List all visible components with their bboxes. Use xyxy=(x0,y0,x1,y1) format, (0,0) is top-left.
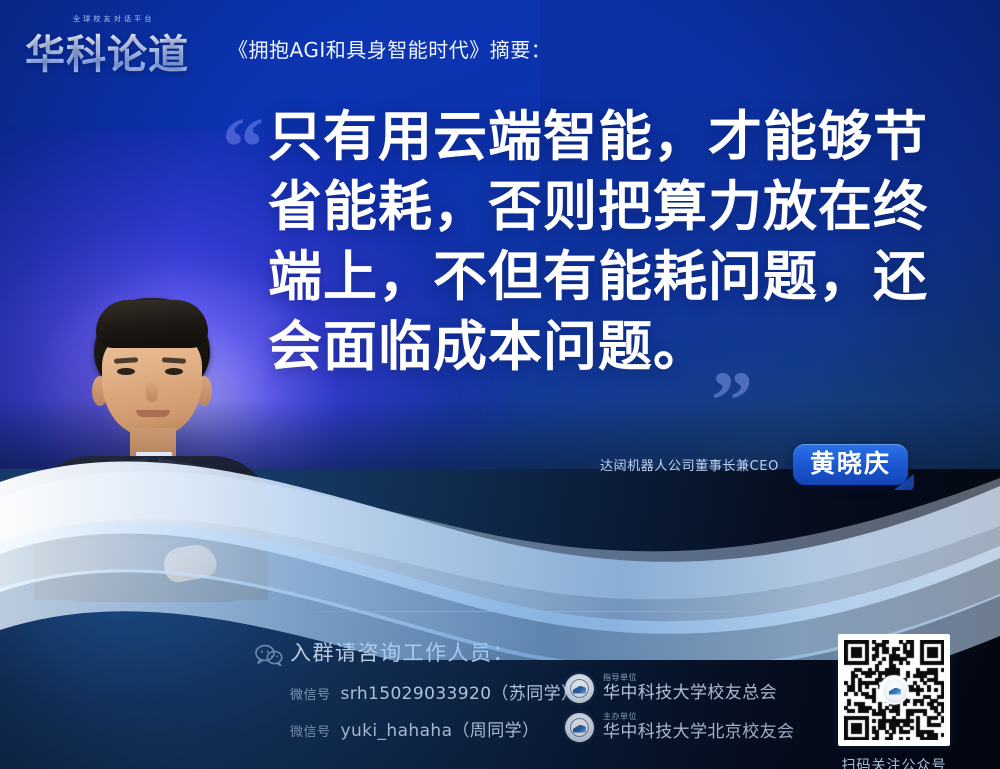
quote-line: 只有用云端智能，才能够节 xyxy=(268,102,958,172)
quote-open-mark: “ xyxy=(222,106,264,190)
portrait-eye-right xyxy=(165,368,183,375)
attribution: 达闼机器人公司董事长兼CEO 黄晓庆 xyxy=(600,444,908,485)
quote-close-mark: ” xyxy=(711,360,753,444)
brand-logo[interactable]: 全球校友对话平台 华科论道 xyxy=(25,12,221,74)
portrait-nose xyxy=(146,380,158,402)
logo-wordmark: 华科论道 xyxy=(25,22,189,80)
speaker-role: 达闼机器人公司董事长兼CEO xyxy=(600,455,779,474)
speaker-name-badge: 黄晓庆 xyxy=(793,444,908,485)
footer-divider xyxy=(288,611,788,612)
portrait-eye-left xyxy=(117,368,135,375)
quote-block: “ 只有用云端智能，才能够节 省能耗，否则把算力放在终 端上，不但有能耗问题，还… xyxy=(268,102,958,382)
header: 全球校友对话平台 华科论道 《拥抱AGI和具身智能时代》摘要： xyxy=(0,0,1000,92)
qr-code-image[interactable] xyxy=(838,634,950,746)
portrait-mouth xyxy=(136,410,170,417)
qr-caption: 扫码关注公众号 xyxy=(838,755,950,769)
quote-line: 会面临成本问题。 xyxy=(268,312,958,382)
quote-line: 省能耗，否则把算力放在终 xyxy=(268,172,958,242)
page-title: 《拥抱AGI和具身智能时代》摘要： xyxy=(228,34,551,63)
portrait-hair-front xyxy=(96,300,208,348)
qr-center-logo-icon xyxy=(882,678,908,704)
poster-root: 全球校友对话平台 华科论道 《拥抱AGI和具身智能时代》摘要： “ 只有用云端智… xyxy=(0,0,1000,769)
quote-line: 端上，不但有能耗问题，还 xyxy=(268,242,958,312)
qr-block[interactable]: 扫码关注公众号 xyxy=(838,634,950,769)
